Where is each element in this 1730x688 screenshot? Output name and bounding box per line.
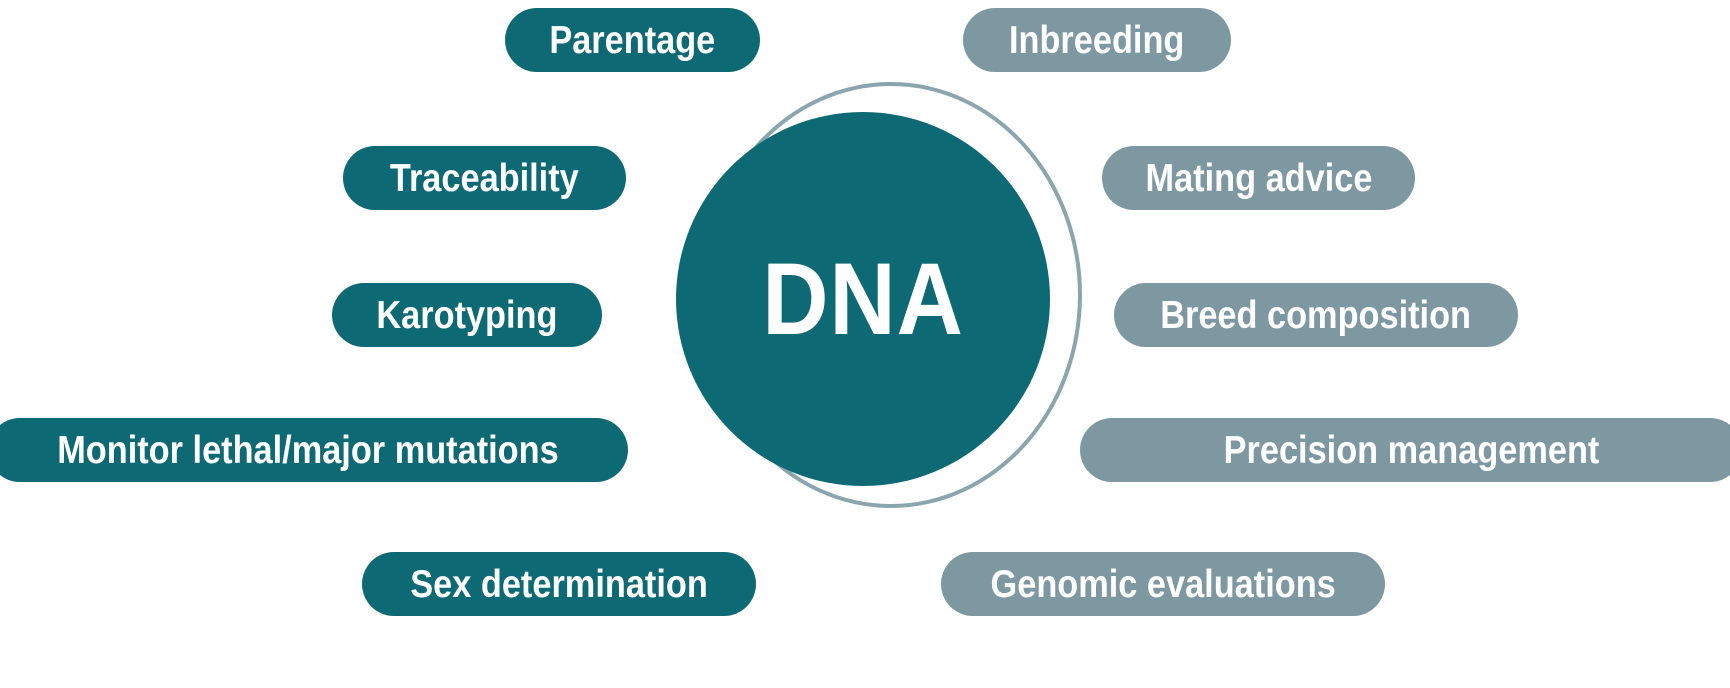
node-precision-management[interactable]: Precision management [1080, 418, 1730, 482]
node-breed-composition-label: Breed composition [1161, 296, 1472, 335]
node-sex-determination[interactable]: Sex determination [362, 552, 756, 616]
node-traceability-label: Traceability [390, 159, 579, 198]
center-dna-label: DNA [762, 248, 964, 350]
node-monitor-lethal-major-mutations[interactable]: Monitor lethal/major mutations [0, 418, 628, 482]
node-karotyping[interactable]: Karotyping [332, 283, 602, 347]
node-parentage[interactable]: Parentage [505, 8, 760, 72]
node-traceability[interactable]: Traceability [343, 146, 626, 210]
node-sex-determination-label: Sex determination [410, 565, 708, 604]
node-breed-composition[interactable]: Breed composition [1114, 283, 1518, 347]
node-mating-advice-label: Mating advice [1145, 159, 1372, 198]
node-genomic-evaluations[interactable]: Genomic evaluations [941, 552, 1385, 616]
node-monitor-lethal-major-mutations-label: Monitor lethal/major mutations [57, 431, 558, 470]
node-inbreeding-label: Inbreeding [1009, 21, 1184, 60]
node-precision-management-label: Precision management [1223, 431, 1599, 470]
center-dna-circle[interactable]: DNA [676, 112, 1050, 486]
dna-applications-diagram: Parentage Traceability Karotyping Monito… [0, 0, 1730, 688]
node-mating-advice[interactable]: Mating advice [1102, 146, 1415, 210]
node-parentage-label: Parentage [550, 21, 716, 60]
node-inbreeding[interactable]: Inbreeding [963, 8, 1231, 72]
node-genomic-evaluations-label: Genomic evaluations [990, 565, 1335, 604]
node-karotyping-label: Karotyping [376, 296, 557, 335]
